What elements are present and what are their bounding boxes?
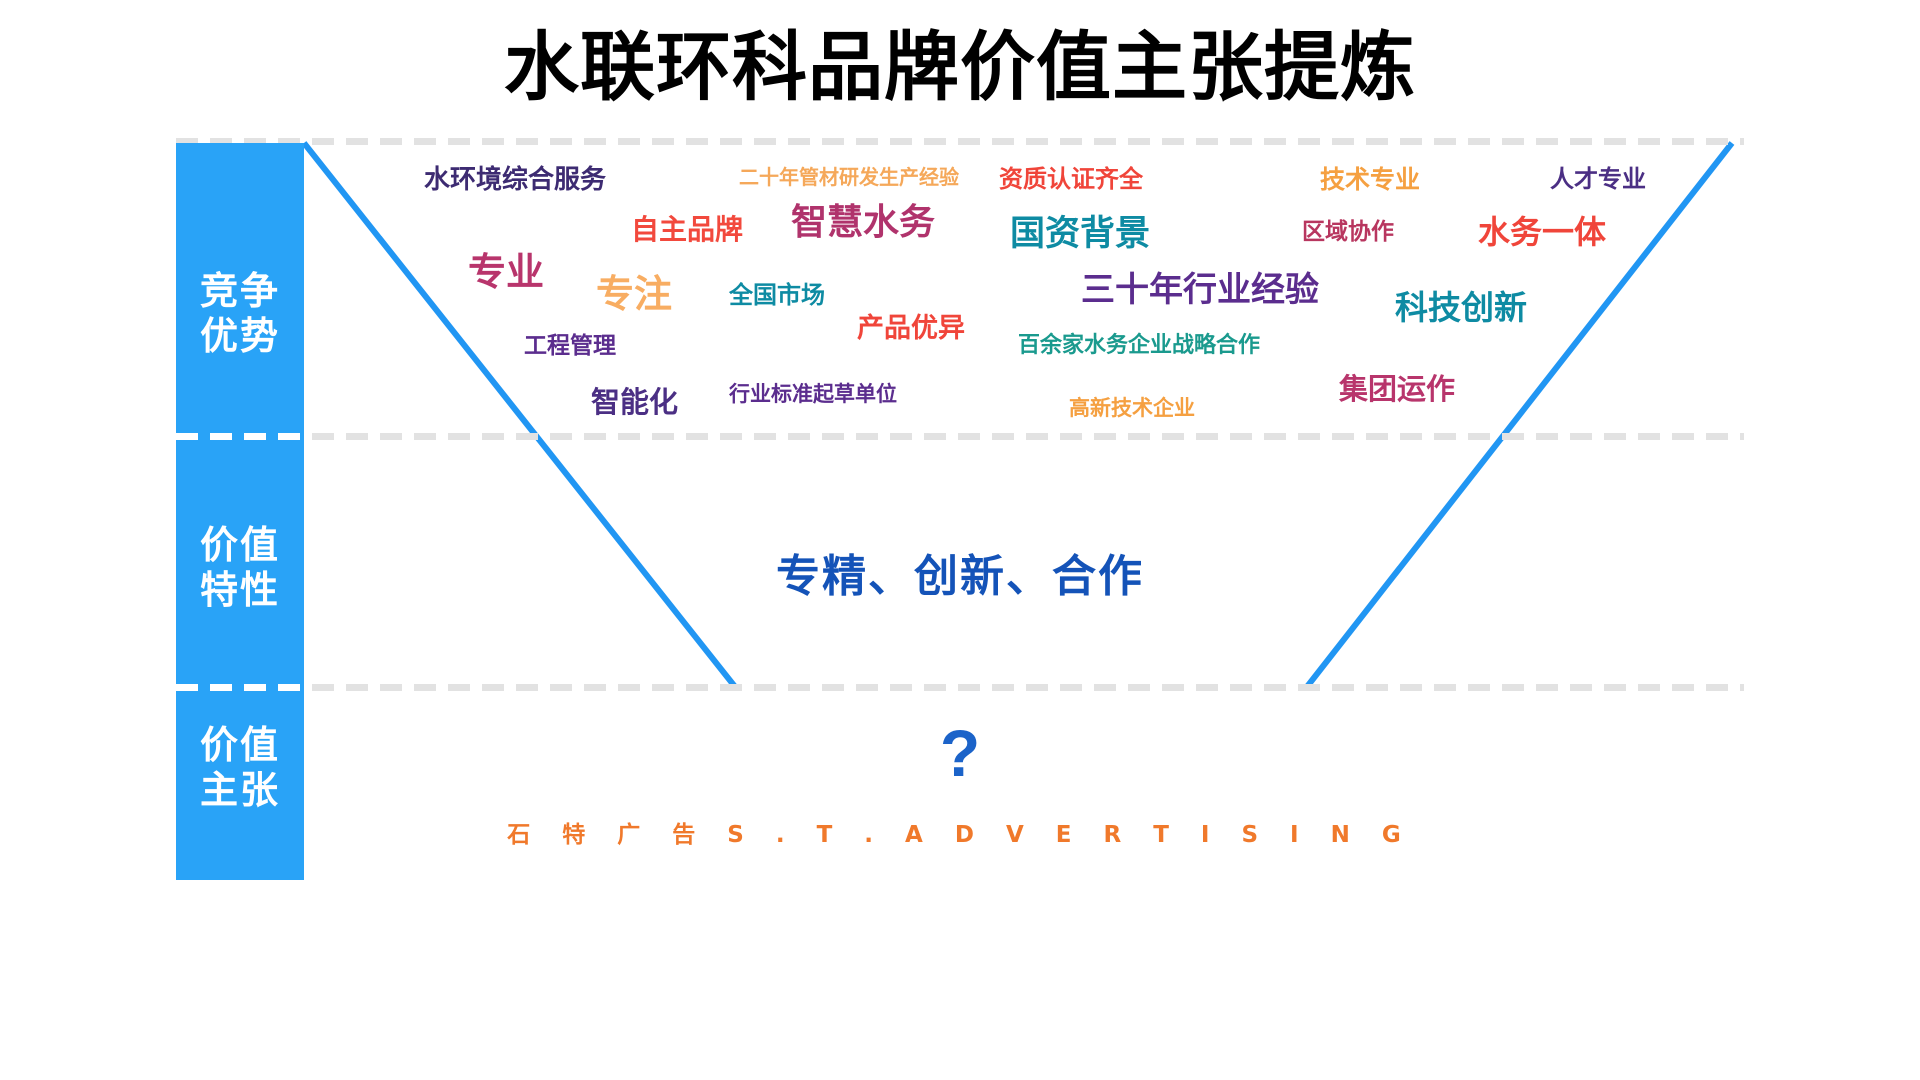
- wordcloud-term: 智慧水务: [791, 205, 935, 241]
- wordcloud-term: 工程管理: [524, 335, 616, 358]
- wordcloud-term: 专业: [468, 253, 544, 291]
- wordcloud-term: 三十年行业经验: [1081, 273, 1319, 307]
- wordcloud-term: 水务一体: [1478, 216, 1606, 248]
- value-traits-text: 专精、创新、合作: [176, 540, 1744, 604]
- wordcloud-term: 产品优异: [857, 315, 965, 342]
- wordcloud-term: 人才专业: [1550, 167, 1646, 191]
- wordcloud-term: 区域协作: [1302, 221, 1394, 244]
- divider-advantage-value: [176, 433, 1744, 440]
- value-proposition-placeholder: ?: [176, 715, 1744, 791]
- wordcloud-term: 高新技术企业: [1069, 398, 1195, 419]
- wordcloud-term: 技术专业: [1320, 167, 1420, 192]
- footer-credit: 石 特 广 告 S . T . A D V E R T I S I N G: [176, 815, 1744, 849]
- page-title: 水联环科品牌价值主张提炼: [176, 28, 1744, 107]
- wordcloud-term: 自主品牌: [631, 216, 743, 244]
- wordcloud-term: 行业标准起草单位: [729, 384, 897, 405]
- rail-divider-1: [176, 433, 304, 440]
- wordcloud-term: 国资背景: [1010, 217, 1150, 252]
- wordcloud-term: 水环境综合服务: [424, 167, 606, 193]
- wordcloud-term: 专注: [596, 275, 672, 313]
- wordcloud-term: 智能化: [591, 388, 678, 417]
- wordcloud-term: 集团运作: [1339, 375, 1455, 404]
- wordcloud-term: 资质认证齐全: [999, 167, 1143, 191]
- rail-divider-2: [176, 684, 304, 691]
- word-cloud: 水环境综合服务二十年管材研发生产经验资质认证齐全技术专业人才专业自主品牌智慧水务…: [176, 143, 1744, 433]
- wordcloud-term: 全国市场: [729, 283, 825, 307]
- wordcloud-term: 科技创新: [1395, 291, 1527, 324]
- wordcloud-term: 二十年管材研发生产经验: [739, 167, 959, 187]
- slide-canvas: 水联环科品牌价值主张提炼 竞争 优势 价值 特性 价值 主张 水环境综合服务二十…: [176, 0, 1744, 880]
- divider-value-proposition: [176, 684, 1744, 691]
- wordcloud-term: 百余家水务企业战略合作: [1018, 335, 1260, 357]
